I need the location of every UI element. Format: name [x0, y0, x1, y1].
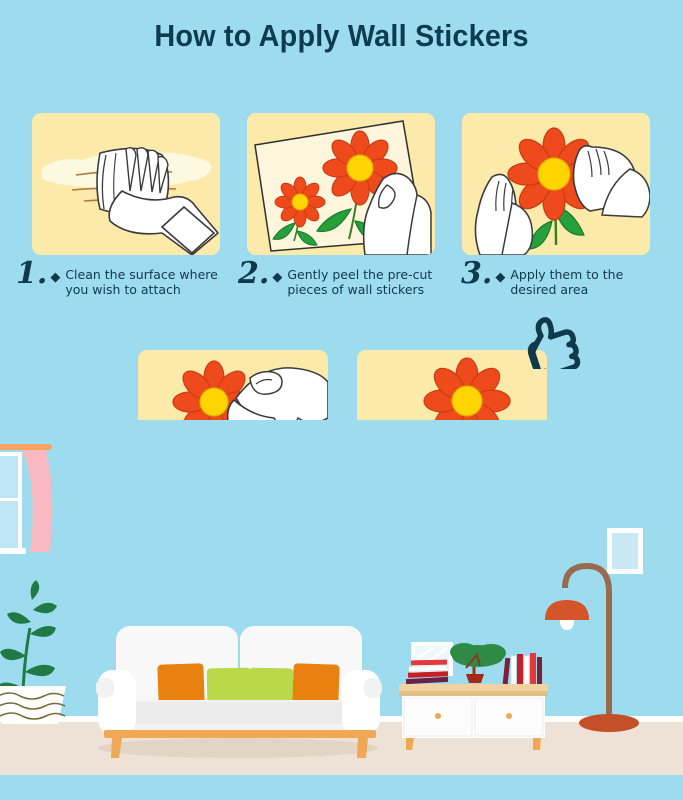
step-3-bullet-icon: ◆ [495, 261, 505, 293]
step-2-text: Gently peel the pre-cut pieces of wall s… [287, 261, 463, 297]
step-1-number: 1. [16, 261, 47, 287]
step-3-caption: 3. ◆ Apply them to the desired area [461, 261, 666, 297]
step-2-illustration [247, 113, 435, 255]
step-1-bullet-icon: ◆ [50, 261, 60, 293]
wall-picture-illustration [607, 528, 643, 574]
step-3-illustration [462, 113, 650, 255]
infographic-root: How to Apply Wall Stickers [0, 0, 683, 800]
room-scene [0, 420, 683, 800]
step-2-number: 2. [238, 261, 269, 287]
step-2-caption: 2. ◆ Gently peel the pre-cut pieces of w… [238, 261, 463, 297]
step-2-bullet-icon: ◆ [272, 261, 282, 293]
step-3-number: 3. [461, 261, 492, 287]
page-title: How to Apply Wall Stickers [24, 18, 659, 54]
thumbs-up-icon [519, 313, 583, 374]
step-1-text: Clean the surface where you wish to atta… [65, 261, 231, 297]
sideboard-illustration [399, 642, 548, 750]
step-1-caption: 1. ◆ Clean the surface where you wish to… [16, 261, 231, 297]
step-3-text: Apply them to the desired area [510, 261, 666, 297]
step-1-illustration [32, 113, 220, 255]
